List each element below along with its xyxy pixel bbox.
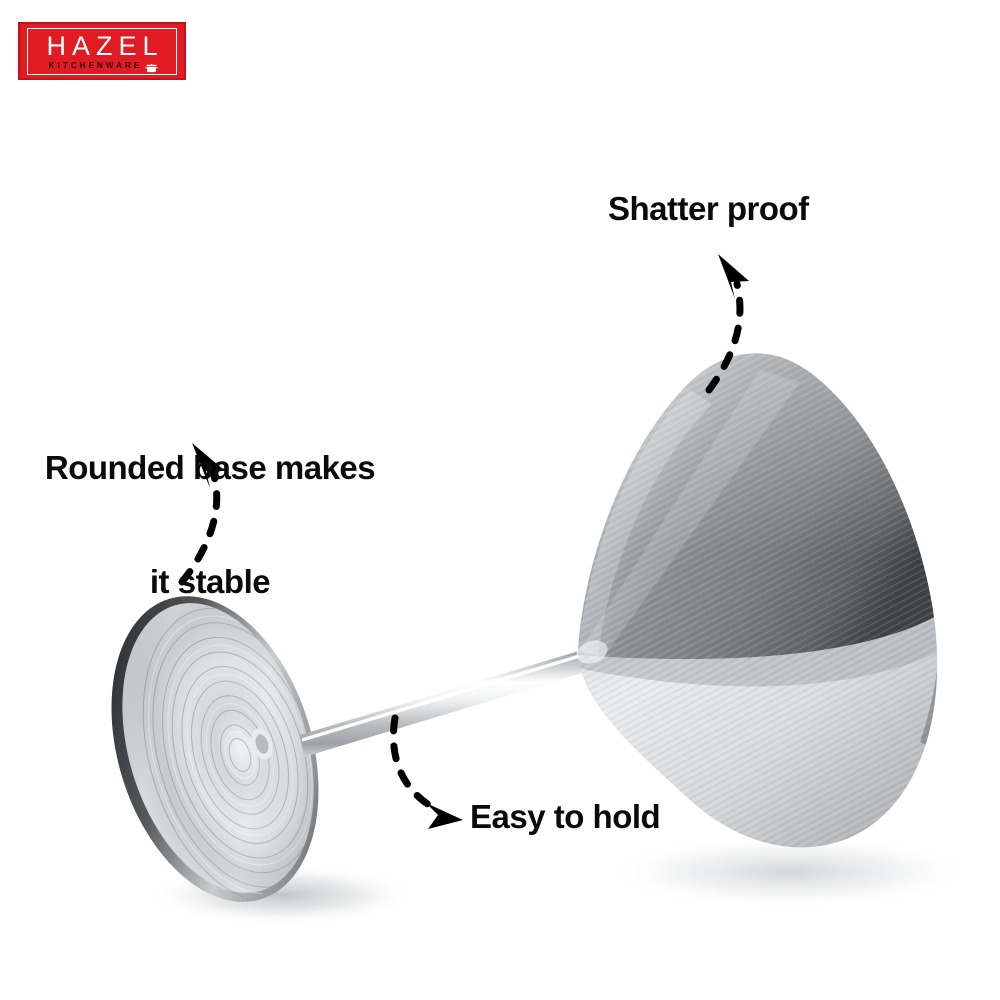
brand-tagline: KITCHENWARE: [46, 62, 143, 70]
annotation-rounded-base-line1: Rounded base makes: [14, 449, 406, 487]
shatter-proof-arrow: [709, 254, 749, 390]
annotation-shatter-proof: Shatter proof: [608, 190, 809, 228]
brand-name: HAZEL: [40, 33, 163, 60]
product-feature-image: HAZEL KITCHENWARE Shatter proof Rounded …: [0, 0, 1000, 1000]
cooking-pot-icon: [145, 61, 158, 71]
annotation-rounded-base: Rounded base makes it stable: [14, 372, 406, 678]
easy-to-hold-arrow: [393, 718, 463, 829]
brand-logo[interactable]: HAZEL KITCHENWARE: [18, 22, 186, 80]
brand-tagline-row: KITCHENWARE: [31, 61, 173, 71]
annotation-rounded-base-line2: it stable: [14, 563, 406, 601]
brand-logo-frame: HAZEL KITCHENWARE: [27, 28, 177, 75]
annotation-easy-to-hold: Easy to hold: [470, 798, 660, 836]
